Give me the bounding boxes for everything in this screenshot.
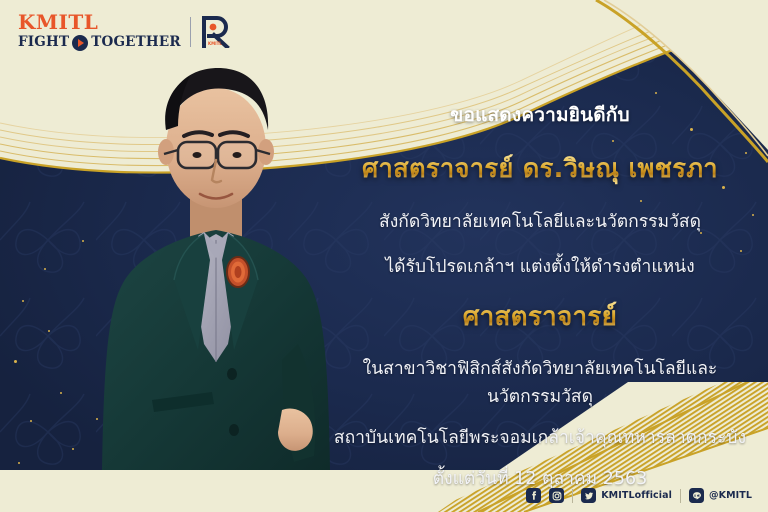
message-block: ขอแสดงความยินดีกับ ศาสตราจารย์ ดร.วิษณุ … — [330, 100, 750, 492]
social-divider — [572, 489, 573, 503]
kmitl-r-mark: KMITL — [200, 16, 230, 48]
institution-line: สถาบันเทคโนโลยีพระจอมเกล้าเจ้าคุณทหารลาด… — [330, 423, 750, 451]
logo-kmitl-text: KMITL — [18, 12, 181, 32]
play-triangle-icon — [72, 35, 88, 51]
twitter-handle[interactable]: KMITLofficial — [601, 490, 672, 501]
line-handle[interactable]: @KMITL — [709, 490, 752, 501]
honoree-name: ศาสตราจารย์ ดร.วิษณุ เพชรภา — [330, 149, 750, 189]
appointment-intro-line: ได้รับโปรดเกล้าฯ แต่งตั้งให้ดำรงตำแหน่ง — [330, 252, 750, 280]
kmitl-logo[interactable]: KMITL FIGHT TOGETHER KMITL — [18, 12, 230, 51]
logo-tagline: FIGHT TOGETHER — [18, 35, 181, 51]
congratulation-banner: KMITL FIGHT TOGETHER KMITL ขอแสดงความยิน… — [0, 0, 768, 512]
logo-together-text: TOGETHER — [91, 36, 181, 50]
twitter-icon[interactable] — [581, 488, 596, 503]
instagram-icon[interactable] — [549, 488, 564, 503]
congratulation-line: ขอแสดงความยินดีกับ — [330, 100, 750, 130]
logo-divider — [190, 17, 192, 47]
professor-portrait — [86, 44, 346, 470]
affiliation-line: สังกัดวิทยาลัยเทคโนโลยีและนวัตกรรมวัสดุ — [330, 207, 750, 235]
social-bar[interactable]: KMITLofficial @KMITL — [526, 488, 752, 503]
svg-text:KMITL: KMITL — [208, 41, 222, 46]
twitter-group[interactable]: KMITLofficial — [581, 488, 672, 503]
line-icon[interactable] — [689, 488, 704, 503]
position-title: ศาสตราจารย์ — [330, 296, 750, 337]
field-line: ในสาขาวิชาฟิสิกส์สังกัดวิทยาลัยเทคโนโลยี… — [330, 354, 750, 410]
logo-fight-text: FIGHT — [18, 36, 69, 50]
logo-wordmark: KMITL FIGHT TOGETHER — [18, 12, 181, 51]
line-group[interactable]: @KMITL — [689, 488, 752, 503]
social-divider-2 — [680, 489, 681, 503]
facebook-icon[interactable] — [526, 488, 541, 503]
